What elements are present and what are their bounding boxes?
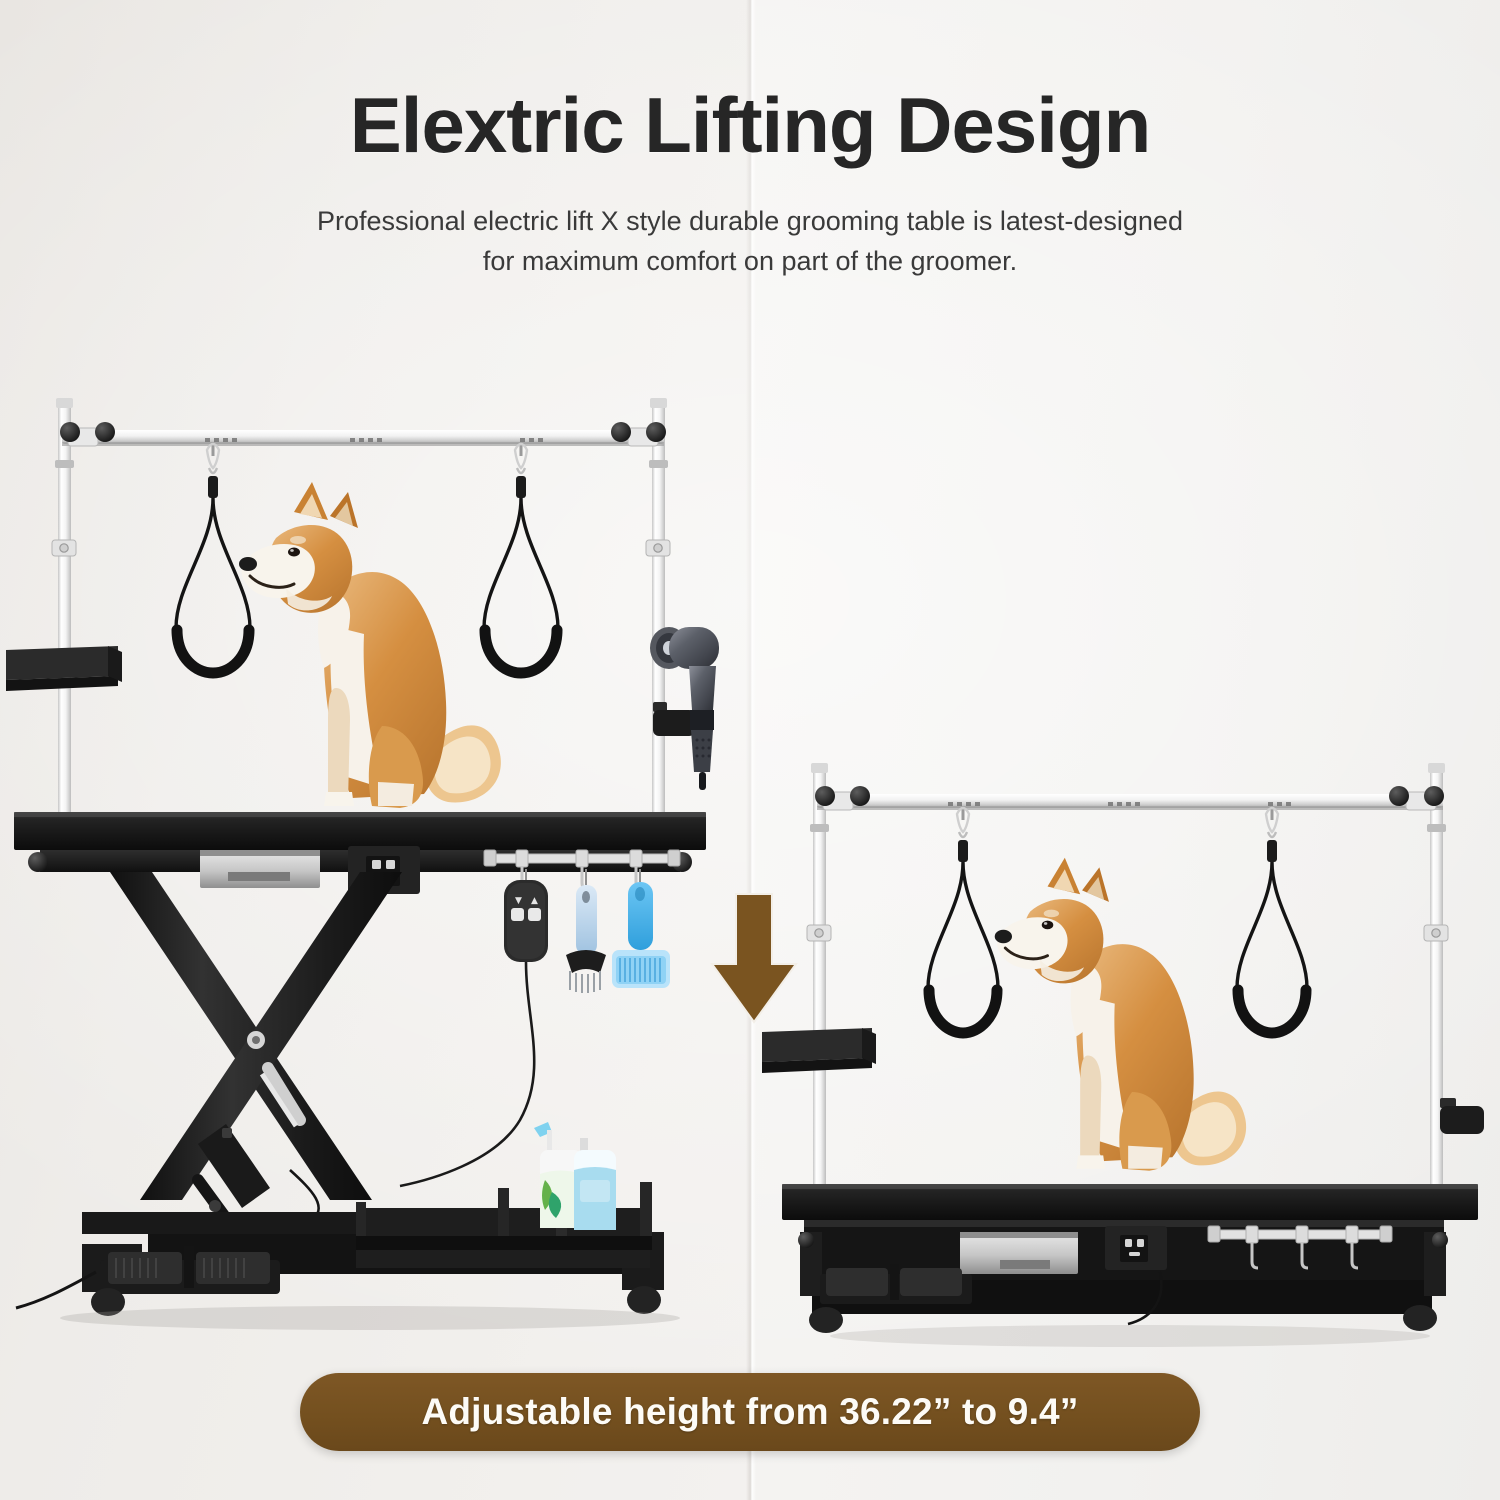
panel-raised-table: ▼ ▲ [0,380,760,1380]
storage-drawer[interactable] [200,850,320,888]
conditioner-bottle-blue [574,1138,616,1230]
arm-knob-3[interactable] [1389,786,1409,806]
subtitle-line-1: Professional electric lift X style durab… [0,201,1500,242]
post-collar-right [1427,824,1446,832]
arm-knob-4[interactable] [646,422,666,442]
post-cap-right [650,398,667,408]
hand-remote[interactable]: ▼ ▲ [400,869,548,1186]
post-eyelet-left [52,540,76,556]
arm-knob-3[interactable] [611,422,631,442]
noose-loop-right[interactable] [1237,808,1307,1033]
table-floor-shadow [830,1325,1430,1347]
foot-pedal-assembly[interactable] [820,1264,972,1304]
table-top-highlight [782,1184,1478,1189]
post-cap-left [56,398,73,408]
dryer-holder [1440,1098,1484,1134]
post-cap-left [811,763,828,773]
arm-knob-1[interactable] [60,422,80,442]
side-shelf-tray [6,646,122,691]
page-title: Elextric Lifting Design [0,85,1500,167]
overhead-arm-shadowline [62,442,664,446]
post-collar-left [810,824,829,832]
table-top-slab [782,1184,1478,1220]
leveling-foot-left [809,1307,843,1333]
slab-knob-left[interactable] [28,852,48,872]
grooming-arm-post-left [58,402,71,847]
overhead-arm-shadowline [817,806,1443,810]
noose-loop-left[interactable] [928,808,998,1033]
grooming-arm-post-right [1430,767,1443,1219]
arm-knob-2[interactable] [95,422,115,442]
x-scissor-frame [110,872,402,1200]
side-shelf-tray [762,1028,876,1073]
grooming-arm-post-left [813,767,826,1219]
page-subtitle: Professional electric lift X style durab… [0,201,1500,282]
storage-drawer[interactable] [960,1232,1078,1274]
table-top-highlight [14,812,706,817]
leveling-foot-right [1403,1305,1437,1331]
post-collar-right [649,460,668,468]
post-cap-right [1428,763,1445,773]
arm-knob-1[interactable] [815,786,835,806]
arm-knob-4[interactable] [1424,786,1444,806]
leveling-foot-right [627,1286,661,1314]
post-collar-left [55,460,74,468]
table-floor-shadow [60,1306,680,1330]
slicker-brush[interactable] [612,869,670,988]
subtitle-line-2: for maximum comfort on part of the groom… [0,241,1500,282]
panel-lowered-table [760,740,1500,1360]
noose-loop-right[interactable] [484,444,558,673]
foot-pedal-assembly[interactable] [100,1246,280,1294]
post-eyelet-right [646,540,670,556]
adjustable-height-banner: Adjustable height from 36.22” to 9.4” [300,1373,1200,1451]
shiba-inu-dog [995,858,1246,1171]
shiba-inu-dog [239,482,501,808]
dryer-holder [653,702,695,736]
post-eyelet-left [807,925,831,941]
post-eyelet-right [1424,925,1448,941]
table-top-slab [14,812,706,850]
infographic-canvas: Elextric Lifting Design Professional ele… [0,0,1500,1500]
arm-knob-2[interactable] [850,786,870,806]
noose-loop-left[interactable] [176,444,250,673]
grooming-arm-post-right [652,402,665,847]
svg-text:▲: ▲ [531,896,538,906]
svg-text:▼: ▼ [515,896,522,906]
dematting-rake[interactable] [566,869,606,993]
header-block: Elextric Lifting Design Professional ele… [0,0,1500,282]
banner-label: Adjustable height from 36.22” to 9.4” [421,1391,1078,1433]
down-arrow-icon [700,880,810,1030]
power-outlet-box[interactable] [1105,1226,1167,1270]
